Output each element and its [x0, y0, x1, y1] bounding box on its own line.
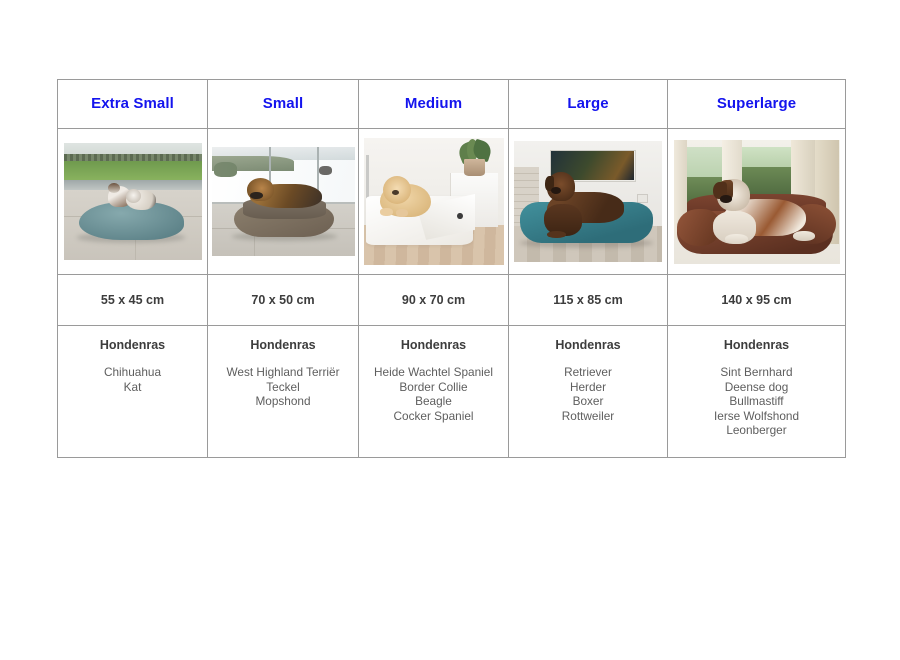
- photo-dog-snout: [720, 195, 732, 202]
- dog-bed-size-table: Extra Small Small Medium Large Superlarg…: [57, 79, 846, 458]
- product-photo-extra-small: [64, 143, 202, 261]
- table-dimension-row: 55 x 45 cm 70 x 50 cm 90 x 70 cm 115 x 8…: [58, 275, 846, 326]
- header-cell-large: Large: [509, 80, 668, 129]
- breed-block: Hondenras Chihuahua Kat: [58, 326, 207, 394]
- dimension-label: 70 x 50 cm: [208, 293, 358, 307]
- breed-item: Chihuahua: [58, 365, 207, 380]
- breed-item: Cocker Spaniel: [359, 409, 508, 424]
- breed-list-title: Hondenras: [509, 338, 667, 352]
- photo-dog-paw: [725, 234, 748, 244]
- photo-cell-large: [509, 129, 668, 275]
- photo-dog-paw: [793, 231, 815, 241]
- breed-item: Teckel: [208, 380, 358, 395]
- size-header-label: Extra Small: [58, 95, 207, 113]
- breeds-cell-medium: Hondenras Heide Wachtel Spaniel Border C…: [359, 326, 509, 458]
- dimension-cell-medium: 90 x 70 cm: [359, 275, 509, 326]
- product-photo-superlarge: [674, 140, 840, 264]
- breed-list: Chihuahua Kat: [58, 365, 207, 394]
- breed-list: Heide Wachtel Spaniel Border Collie Beag…: [359, 365, 508, 423]
- page-canvas: Extra Small Small Medium Large Superlarg…: [0, 0, 900, 660]
- dimension-cell-large: 115 x 85 cm: [509, 275, 668, 326]
- photo-cell-medium: [359, 129, 509, 275]
- breed-item: Boxer: [509, 394, 667, 409]
- photo-lawn: [64, 161, 202, 181]
- breed-block: Hondenras Heide Wachtel Spaniel Border C…: [359, 326, 508, 423]
- breed-item: Bullmastiff: [668, 394, 845, 409]
- breed-list: Retriever Herder Boxer Rottweiler: [509, 365, 667, 423]
- photo-wrapper: [58, 129, 207, 274]
- photo-wrapper: [208, 129, 358, 274]
- breed-item: Deense dog: [668, 380, 845, 395]
- size-header-label: Small: [208, 95, 358, 113]
- breed-item: Heide Wachtel Spaniel: [359, 365, 508, 380]
- breed-item: West Highland Terriër: [208, 365, 358, 380]
- breeds-cell-superlarge: Hondenras Sint Bernhard Deense dog Bullm…: [668, 326, 846, 458]
- breed-block: Hondenras Sint Bernhard Deense dog Bullm…: [668, 326, 845, 438]
- breeds-cell-extra-small: Hondenras Chihuahua Kat: [58, 326, 208, 458]
- breeds-cell-small: Hondenras West Highland Terriër Teckel M…: [208, 326, 359, 458]
- breed-item: Beagle: [359, 394, 508, 409]
- header-cell-small: Small: [208, 80, 359, 129]
- breed-list: Sint Bernhard Deense dog Bullmastiff Ier…: [668, 365, 845, 438]
- header-cell-extra-small: Extra Small: [58, 80, 208, 129]
- photo-dog-paw: [380, 208, 393, 216]
- photo-dog-paw: [396, 209, 409, 217]
- breed-item: Retriever: [509, 365, 667, 380]
- dimension-cell-extra-small: 55 x 45 cm: [58, 275, 208, 326]
- breed-list: West Highland Terriër Teckel Mopshond: [208, 365, 358, 409]
- header-cell-medium: Medium: [359, 80, 509, 129]
- photo-cell-superlarge: [668, 129, 846, 275]
- breeds-cell-large: Hondenras Retriever Herder Boxer Rottwei…: [509, 326, 668, 458]
- breed-item: Mopshond: [208, 394, 358, 409]
- dimension-label: 90 x 70 cm: [359, 293, 508, 307]
- breed-block: Hondenras West Highland Terriër Teckel M…: [208, 326, 358, 409]
- breed-item: Leonberger: [668, 423, 845, 438]
- dimension-label: 140 x 95 cm: [668, 293, 845, 307]
- breed-item: Border Collie: [359, 380, 508, 395]
- size-header-label: Superlarge: [668, 95, 845, 113]
- product-photo-small: [212, 147, 355, 257]
- photo-cell-small: [208, 129, 359, 275]
- photo-dog-snout: [392, 190, 399, 195]
- size-header-label: Large: [509, 95, 667, 113]
- product-photo-medium: [364, 138, 504, 266]
- header-cell-superlarge: Superlarge: [668, 80, 846, 129]
- dimension-label: 55 x 45 cm: [58, 293, 207, 307]
- breed-list-title: Hondenras: [359, 338, 508, 352]
- photo-wrapper: [668, 129, 845, 274]
- breed-block: Hondenras Retriever Herder Boxer Rottwei…: [509, 326, 667, 423]
- table-photo-row: [58, 129, 846, 275]
- dimension-cell-superlarge: 140 x 95 cm: [668, 275, 846, 326]
- product-photo-large: [514, 141, 662, 263]
- breed-item: Rottweiler: [509, 409, 667, 424]
- photo-wrapper: [359, 129, 508, 274]
- breed-item: Herder: [509, 380, 667, 395]
- breed-item: Kat: [58, 380, 207, 395]
- breed-list-title: Hondenras: [58, 338, 207, 352]
- photo-wrapper: [509, 129, 667, 274]
- photo-dog-paw: [547, 231, 566, 238]
- table-breeds-row: Hondenras Chihuahua Kat Hondenras West H…: [58, 326, 846, 458]
- dimension-label: 115 x 85 cm: [509, 293, 667, 307]
- breed-list-title: Hondenras: [208, 338, 358, 352]
- photo-plant-pot: [464, 159, 485, 176]
- photo-dog-snout: [250, 192, 263, 200]
- size-header-label: Medium: [359, 95, 508, 113]
- photo-animal-head: [126, 189, 141, 203]
- dimension-cell-small: 70 x 50 cm: [208, 275, 359, 326]
- breed-list-title: Hondenras: [668, 338, 845, 352]
- breed-item: Sint Bernhard: [668, 365, 845, 380]
- breed-item: Ierse Wolfshond: [668, 409, 845, 424]
- table-header-row: Extra Small Small Medium Large Superlarg…: [58, 80, 846, 129]
- photo-cell-extra-small: [58, 129, 208, 275]
